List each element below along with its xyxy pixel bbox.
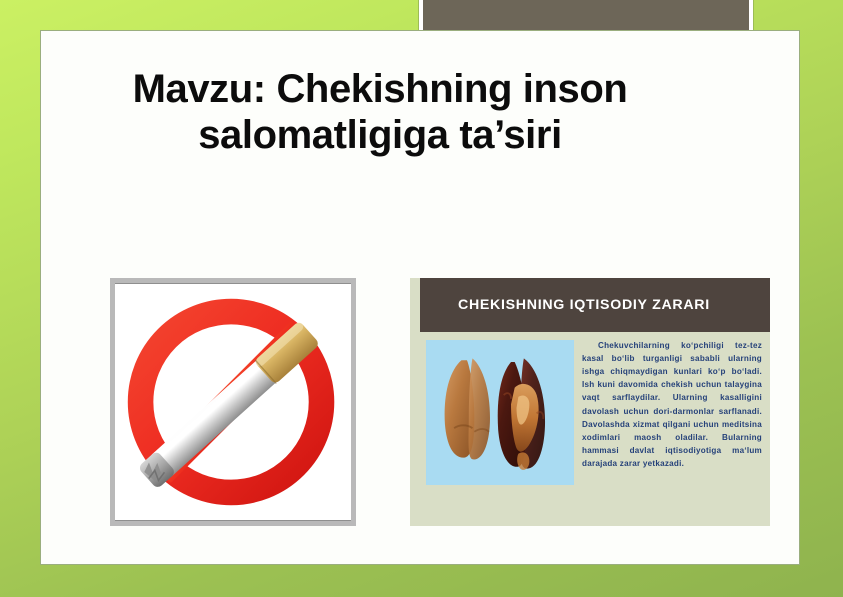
lungs-comparison-photo [426, 340, 574, 485]
poster-banner-title: CHEKISHNING IQTISODIY ZARARI [458, 297, 710, 313]
no-smoking-sign-image [110, 278, 356, 526]
lungs-graphic [426, 340, 574, 485]
slide-title: Mavzu: Chekishning inson salomatligiga t… [70, 66, 690, 159]
poster-body-text: Chekuvchilarning koʻpchiligi tez-tez kas… [582, 338, 762, 514]
presentation-slide: Mavzu: Chekishning inson salomatligiga t… [0, 0, 843, 597]
poster-banner: CHEKISHNING IQTISODIY ZARARI [420, 278, 770, 332]
poster-body: Chekuvchilarning koʻpchiligi tez-tez kas… [420, 338, 764, 514]
no-smoking-graphic [115, 283, 351, 521]
economic-harm-poster-image: CHEKISHNING IQTISODIY ZARARI [410, 278, 770, 526]
